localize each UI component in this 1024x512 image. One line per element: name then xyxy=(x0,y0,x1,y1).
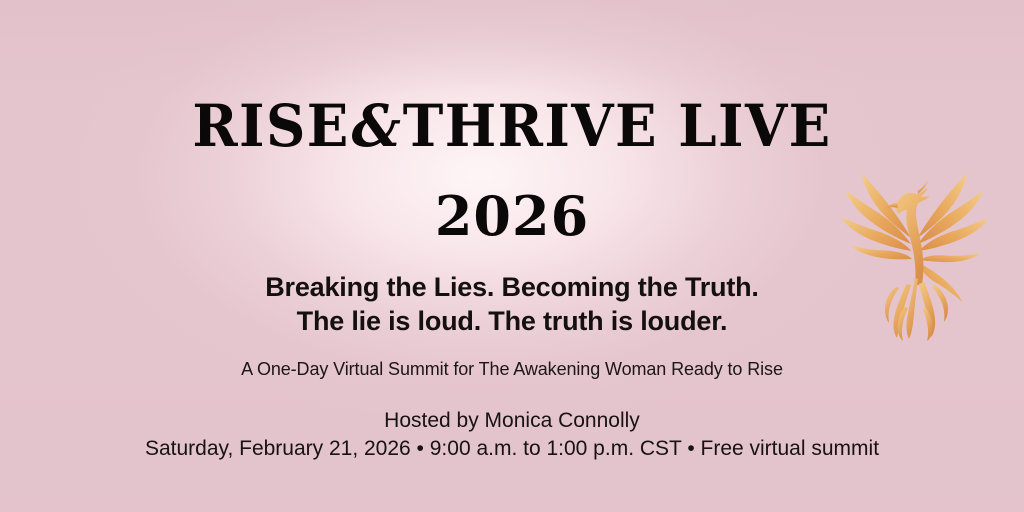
summit-description: A One-Day Virtual Summit for The Awakeni… xyxy=(0,357,1024,381)
host-line: Hosted by Monica Connolly xyxy=(0,408,1024,434)
event-poster: RISE&THRIVE LIVE 2026 Breaking the Lies.… xyxy=(0,0,1024,512)
headline-part-one: RISE xyxy=(192,92,349,160)
schedule-line: Saturday, February 21, 2026 • 9:00 a.m. … xyxy=(0,436,1024,462)
ampersand: & xyxy=(350,92,403,160)
poster-content: RISE&THRIVE LIVE 2026 Breaking the Lies.… xyxy=(0,0,1024,512)
event-year: 2026 xyxy=(0,186,1024,246)
tagline-line-one: Breaking the Lies. Becoming the Truth. xyxy=(0,270,1024,304)
headline-part-two: THRIVE LIVE xyxy=(403,92,832,160)
tagline: Breaking the Lies. Becoming the Truth. T… xyxy=(0,270,1024,338)
tagline-line-two: The lie is loud. The truth is louder. xyxy=(0,304,1024,338)
page-title: RISE&THRIVE LIVE xyxy=(31,94,994,158)
